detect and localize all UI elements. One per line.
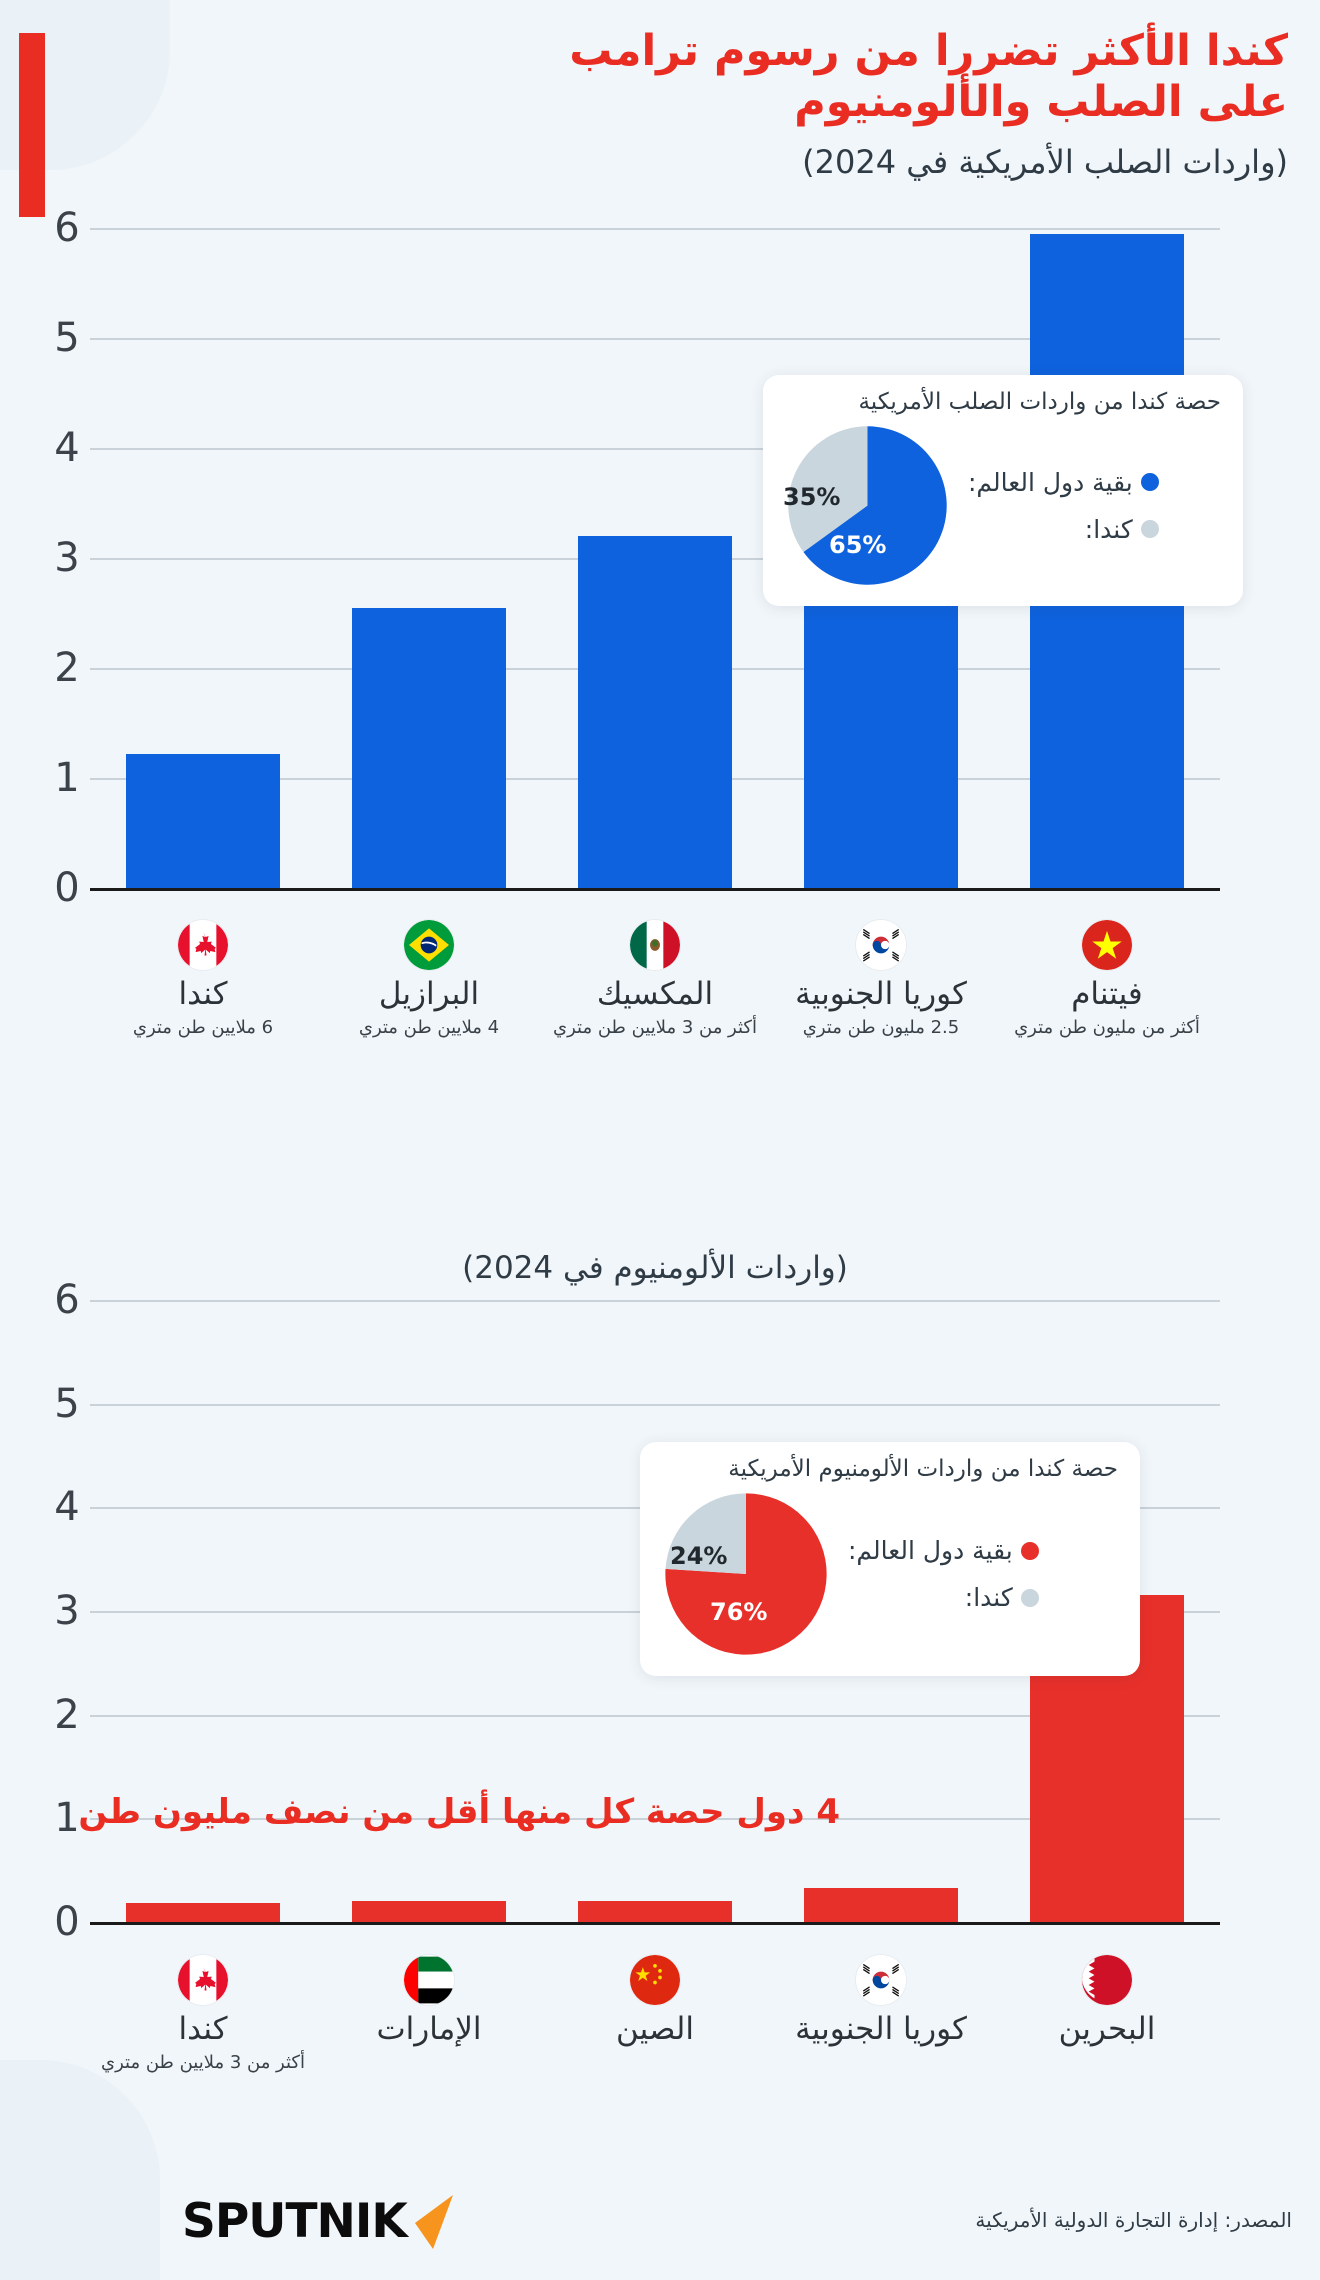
title-line-2: على الصلب والألومنيوم — [236, 77, 1288, 128]
country-name: كندا — [94, 2013, 312, 2046]
y-axis-tick-label: 3 — [44, 1588, 90, 1634]
infographic-page: كندا الأكثر تضررا من رسوم ترامب على الصل… — [0, 0, 1320, 2280]
country-name: البحرين — [998, 2013, 1216, 2046]
sputnik-logo-text: SPUTNIK — [182, 2194, 407, 2249]
china-flag — [630, 1955, 680, 2005]
steel-share-title: حصة كندا من واردات الصلب الأمريكية — [785, 389, 1221, 415]
aluminium-pie-svg — [662, 1490, 830, 1658]
country-cell: كوريا الجنوبية2.5 مليون طن متري — [768, 920, 994, 1039]
uae-flag — [404, 1955, 454, 2005]
steel-pie-label-world: 65% — [829, 531, 886, 559]
legend-item-canada-2: كندا: — [848, 1583, 1039, 1612]
steel-country-row: كندا6 ملايين طن متري البرازيل4 ملايين طن… — [90, 920, 1220, 1039]
bar — [126, 1903, 280, 1922]
sputnik-logo-mark-icon — [413, 2195, 457, 2249]
steel-pie-chart: 65% 35% — [785, 423, 950, 588]
y-axis-tick-label: 3 — [44, 535, 90, 581]
country-value-label: أكثر من 3 ملايين طن متري — [94, 2052, 312, 2074]
steel-pie-label-canada: 35% — [783, 483, 840, 511]
country-cell: كنداأكثر من 3 ملايين طن متري — [90, 1955, 316, 2074]
country-name: الإمارات — [320, 2013, 538, 2046]
country-value-label: أكثر من مليون طن متري — [998, 1017, 1216, 1039]
brazil-flag — [404, 920, 454, 970]
country-value-label: 4 ملايين طن متري — [320, 1017, 538, 1039]
bar — [804, 1888, 958, 1922]
aluminium-share-card: حصة كندا من واردات الألومنيوم الأمريكية … — [640, 1442, 1140, 1676]
country-value-label: 6 ملايين طن متري — [94, 1017, 312, 1039]
title-accent-bar — [19, 33, 45, 217]
country-cell: فيتنامأكثر من مليون طن متري — [994, 920, 1220, 1039]
south-korea-flag — [856, 1955, 906, 2005]
source-label: المصدر: إدارة التجارة الدولية الأمريكية — [975, 2208, 1292, 2232]
axis-baseline — [90, 1922, 1220, 1925]
aluminium-pie-chart: 76% 24% — [662, 1490, 830, 1658]
country-name: كوريا الجنوبية — [772, 2013, 990, 2046]
country-cell: كندا6 ملايين طن متري — [90, 920, 316, 1039]
page-subtitle: (واردات الصلب الأمريكية في 2024) — [236, 143, 1296, 181]
country-cell: المكسيكأكثر من 3 ملايين طن متري — [542, 920, 768, 1039]
country-name: الصين — [546, 2013, 764, 2046]
country-cell: البحرين — [994, 1955, 1220, 2074]
legend-label-rest-of-world: بقية دول العالم: — [968, 468, 1133, 497]
y-axis-tick-label: 5 — [44, 1381, 90, 1427]
legend-dot-red — [1021, 1542, 1039, 1560]
legend-label-canada-2: كندا: — [965, 1583, 1013, 1612]
legend-item-rest-of-world: بقية دول العالم: — [968, 468, 1159, 497]
mexico-flag — [630, 920, 680, 970]
bar — [578, 536, 732, 888]
legend-dot-blue — [1141, 473, 1159, 491]
country-name: فيتنام — [998, 978, 1216, 1011]
aluminium-pie-label-world: 76% — [710, 1598, 767, 1626]
country-value-label: أكثر من 3 ملايين طن متري — [546, 1017, 764, 1039]
legend-label-canada: كندا: — [1085, 515, 1133, 544]
y-axis-tick-label: 2 — [44, 645, 90, 691]
aluminium-annotation: 4 دول حصة كل منها أقل من نصف مليون طن — [78, 1792, 840, 1832]
y-axis-tick-label: 4 — [44, 425, 90, 471]
title-line-1: كندا الأكثر تضررا من رسوم ترامب — [236, 26, 1288, 77]
legend-label-rest-of-world-2: بقية دول العالم: — [848, 1536, 1013, 1565]
bar — [578, 1901, 732, 1922]
bahrain-flag — [1082, 1955, 1132, 2005]
footer: المصدر: إدارة التجارة الدولية الأمريكية … — [0, 2172, 1320, 2280]
y-axis-tick-label: 0 — [44, 865, 90, 911]
country-name: كندا — [94, 978, 312, 1011]
aluminium-pie-label-canada: 24% — [670, 1542, 727, 1570]
country-cell: البرازيل4 ملايين طن متري — [316, 920, 542, 1039]
sputnik-logo: SPUTNIK — [182, 2194, 457, 2249]
bar — [126, 754, 280, 888]
y-axis-tick-label: 5 — [44, 315, 90, 361]
legend-item-rest-of-world-2: بقية دول العالم: — [848, 1536, 1039, 1565]
country-cell: الإمارات — [316, 1955, 542, 2074]
bar — [352, 608, 506, 889]
country-name: المكسيك — [546, 978, 764, 1011]
aluminium-country-row: كنداأكثر من 3 ملايين طن متري الإمارات ال… — [90, 1955, 1220, 2074]
header: كندا الأكثر تضررا من رسوم ترامب على الصل… — [236, 26, 1296, 181]
y-axis-tick-label: 2 — [44, 1692, 90, 1738]
country-name: البرازيل — [320, 978, 538, 1011]
country-name: كوريا الجنوبية — [772, 978, 990, 1011]
legend-dot-grey — [1141, 520, 1159, 538]
y-axis-tick-label: 4 — [44, 1484, 90, 1530]
y-axis-tick-label: 6 — [44, 1277, 90, 1323]
page-title: كندا الأكثر تضررا من رسوم ترامب على الصل… — [236, 26, 1296, 127]
canada-flag — [178, 1955, 228, 2005]
legend-item-canada: كندا: — [968, 515, 1159, 544]
steel-pie-legend: بقية دول العالم: كندا: — [968, 468, 1159, 544]
south-korea-flag — [856, 920, 906, 970]
country-cell: كوريا الجنوبية — [768, 1955, 994, 2074]
bar — [352, 1901, 506, 1922]
aluminium-share-title: حصة كندا من واردات الألومنيوم الأمريكية — [662, 1456, 1118, 1482]
y-axis-tick-label: 6 — [44, 205, 90, 251]
axis-baseline — [90, 888, 1220, 891]
canada-flag — [178, 920, 228, 970]
vietnam-flag — [1082, 920, 1132, 970]
y-axis-tick-label: 0 — [44, 1899, 90, 1945]
aluminium-section-title: (واردات الألومنيوم في 2024) — [90, 1250, 1220, 1286]
country-value-label: 2.5 مليون طن متري — [772, 1017, 990, 1039]
country-cell: الصين — [542, 1955, 768, 2074]
aluminium-pie-legend: بقية دول العالم: كندا: — [848, 1536, 1039, 1612]
legend-dot-grey-2 — [1021, 1589, 1039, 1607]
steel-share-card: حصة كندا من واردات الصلب الأمريكية 65% 3… — [763, 375, 1243, 606]
y-axis-tick-label: 1 — [44, 755, 90, 801]
